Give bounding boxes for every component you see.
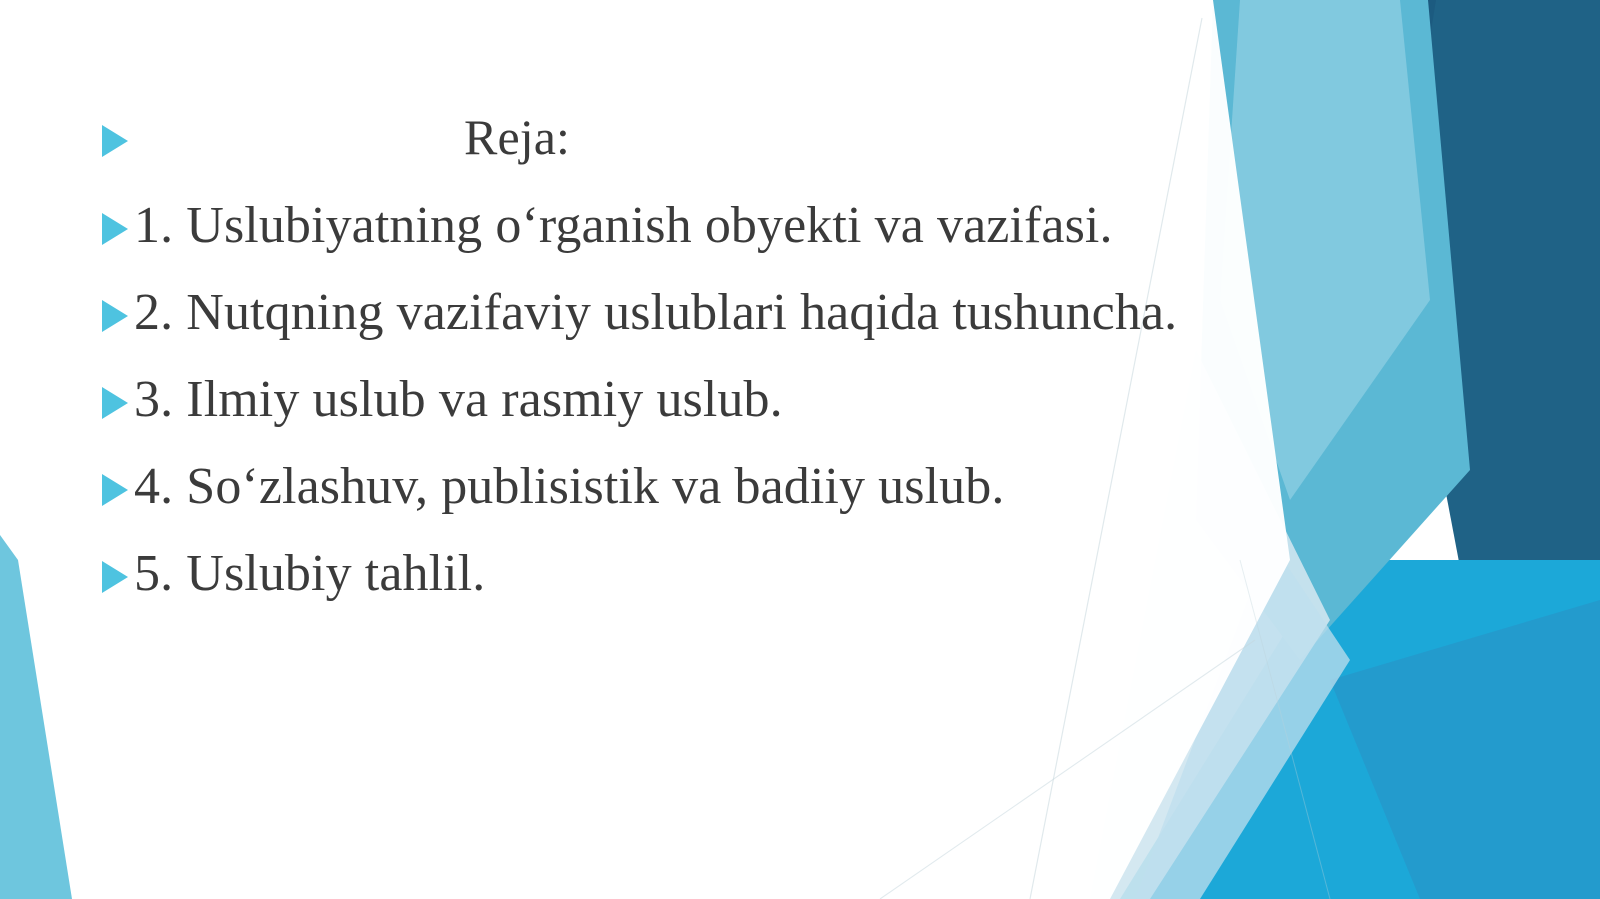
list-item: 2. Nutqning vazifaviy uslublari haqida t… bbox=[100, 287, 1177, 339]
slide-title-row: Reja: bbox=[100, 112, 570, 162]
triangle-right-icon bbox=[100, 211, 130, 247]
triangle-right-icon bbox=[100, 385, 130, 421]
list-item: 4. So‘zlashuv, publisistik va badiiy usl… bbox=[100, 461, 1004, 513]
list-item-label: 2. Nutqning vazifaviy uslublari haqida t… bbox=[134, 287, 1177, 339]
list-item-label: 5. Uslubiy tahlil. bbox=[134, 548, 485, 600]
list-item: 3. Ilmiy uslub va rasmiy uslub. bbox=[100, 374, 783, 426]
slide-content: Reja: 1. Uslubiyatning o‘rganish obyekti… bbox=[0, 0, 1600, 899]
triangle-right-icon bbox=[100, 559, 130, 595]
triangle-right-icon bbox=[100, 472, 130, 508]
triangle-right-icon bbox=[100, 298, 130, 334]
list-item: 5. Uslubiy tahlil. bbox=[100, 548, 485, 600]
list-item-label: 3. Ilmiy uslub va rasmiy uslub. bbox=[134, 374, 783, 426]
triangle-right-icon bbox=[100, 123, 130, 159]
list-item: 1. Uslubiyatning o‘rganish obyekti va va… bbox=[100, 200, 1113, 252]
list-item-label: 1. Uslubiyatning o‘rganish obyekti va va… bbox=[134, 200, 1113, 252]
page-title: Reja: bbox=[464, 112, 570, 162]
slide-canvas: Reja: 1. Uslubiyatning o‘rganish obyekti… bbox=[0, 0, 1600, 899]
list-item-label: 4. So‘zlashuv, publisistik va badiiy usl… bbox=[134, 461, 1004, 513]
